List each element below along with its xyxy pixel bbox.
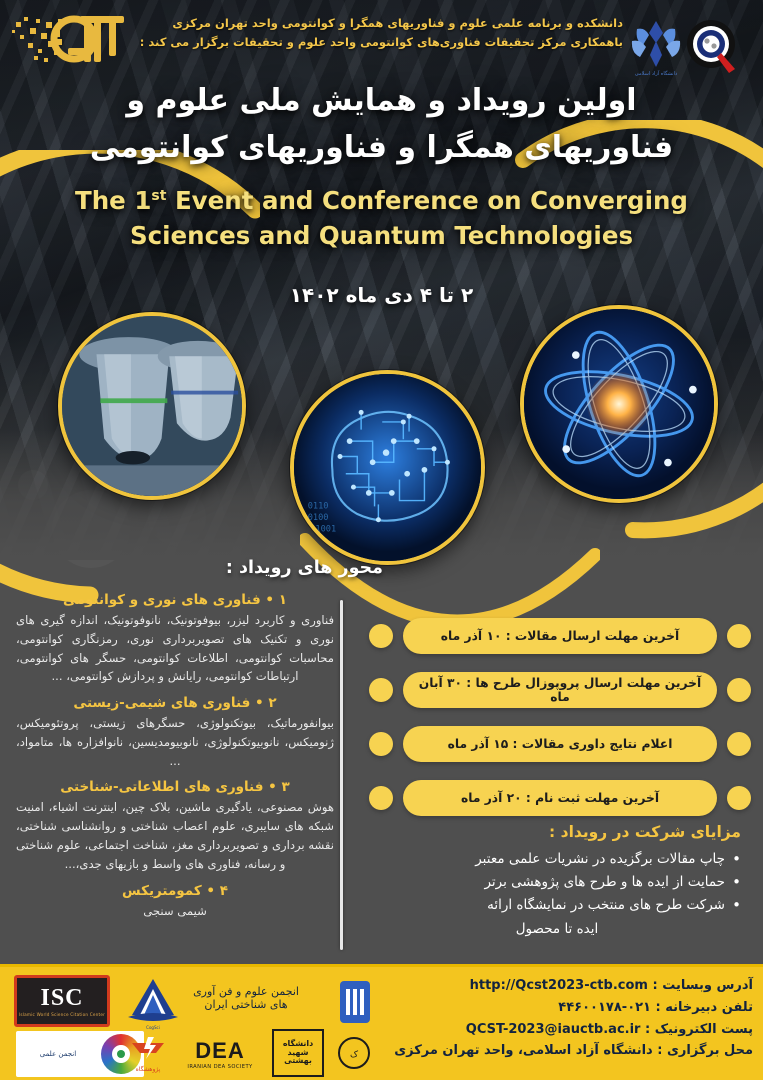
axes-topics-list: ۱ • فناوری های نوری و کوانتومی فناوری و …: [16, 592, 334, 929]
venue-label: محل برگزاری :: [657, 1043, 753, 1058]
topic-label: فناوری های نوری و کوانتومی: [63, 592, 261, 608]
islamic-azad-university-logo: دانشگاه آزاد اسلامی: [629, 15, 683, 77]
topic-item: ۳ • فناوری های اطلاعاتی-شناختی هوش مصنوع…: [16, 779, 334, 873]
benefits-list: چاپ مقالات برگزیده در نشریات علمی معتبر …: [389, 848, 741, 941]
deadline-dot-right: [727, 624, 751, 648]
deadline-row: آخرین مهلت ثبت نام : ۲۰ آذر ماه: [365, 776, 755, 820]
deadline-dot-left: [369, 732, 393, 756]
header-right-logos: دانشگاه آزاد اسلامی: [629, 4, 757, 88]
persian-title-line-2: فناوریهای همگرا و فناوریهای کوانتومی: [0, 125, 763, 172]
persian-title: اولین رویداد و همایش ملی علوم و فناوریها…: [0, 78, 763, 171]
conference-poster: دانشکده و برنامه علمی علوم و فناوریهای ه…: [0, 0, 763, 1080]
topic-label: فناوری های اطلاعاتی-شناختی: [60, 779, 263, 795]
english-title-line-2: Sciences and Quantum Technologies: [0, 219, 763, 254]
phone-label: تلفن دبیرخانه :: [656, 1000, 753, 1015]
organizer-line-1: دانشکده و برنامه علمی علوم و فناوریهای ه…: [113, 14, 623, 33]
topic-title: ۳ • فناوری های اطلاعاتی-شناختی: [16, 779, 334, 795]
deadline-dot-left: [369, 624, 393, 648]
topic-body: بیوانفورماتیک، بیوتکنولوژی، حسگرهای زیست…: [16, 714, 334, 770]
deadline-pill: اعلام نتایج داوری مقالات : ۱۵ آذر ماه: [403, 726, 717, 762]
benefit-item: حمایت از ایده ها و طرح های پژوهشی برتر: [389, 871, 741, 894]
sbu-text: دانشگاه شهید بهشتی: [274, 1040, 322, 1066]
atom-orbitals-art: [524, 309, 714, 499]
footer-sponsor-logos: ISC Islamic World Science Citation Cente…: [6, 971, 354, 1080]
cognitive-society-text: انجمن علوم و فن آوری های شناختی ایران: [186, 985, 306, 1011]
deadline-dot-right: [727, 732, 751, 756]
atom-image-circle: [520, 305, 718, 503]
english-title-rest: Event and Conference on Converging: [175, 186, 688, 215]
power-research-institute-logo: پژوهشگاه: [126, 1033, 170, 1077]
isc-logo: ISC Islamic World Science Citation Cente…: [14, 975, 110, 1027]
benefits-heading: مزایای شرکت در رویداد :: [391, 823, 741, 841]
english-title: The 1st Event and Conference on Convergi…: [0, 184, 763, 254]
dea-main-text: DEA: [195, 1040, 244, 1062]
english-title-pre: The 1: [75, 186, 151, 215]
deadline-dot-left: [369, 786, 393, 810]
azad-caption: دانشگاه آزاد اسلامی: [635, 70, 677, 77]
deadline-pill: آخرین مهلت ثبت نام : ۲۰ آذر ماه: [403, 780, 717, 816]
footer-contact-block: آدرس وبسایت : http://Qcst2023-ctb.com تل…: [353, 975, 753, 1062]
circuit-brain-art: 0110 0100 1001 1001: [294, 374, 481, 561]
topic-body: شیمی سنجی: [16, 902, 334, 921]
topic-label: کمومتریکس: [122, 883, 202, 899]
topic-number: ۱: [279, 592, 287, 608]
event-date: ۲ تا ۴ دی ماه ۱۴۰۲: [0, 283, 763, 307]
deadline-pill: آخرین مهلت ارسال پروپوزال طرح ها : ۳۰ آب…: [403, 672, 717, 708]
benefit-continuation: ایده تا محصول: [389, 918, 741, 941]
phone-row: تلفن دبیرخانه : ۰۲۱-۴۴۶۰۰۱۷۸: [353, 997, 753, 1019]
topic-number: ۳: [281, 779, 289, 795]
website-row: آدرس وبسایت : http://Qcst2023-ctb.com: [353, 975, 753, 997]
deadline-row: آخرین مهلت ارسال پروپوزال طرح ها : ۳۰ آب…: [365, 668, 755, 712]
topic-body: فناوری و کاربرد لیزر، بیوفوتونیک، نانوفو…: [16, 611, 334, 686]
university-logo-footer-1: [336, 977, 374, 1029]
scientific-association-logo: انجمن علمی: [16, 1031, 144, 1077]
qc-research-center-logo: [685, 17, 741, 75]
topic-title: ۲ • فناوری های شیمی-زیستی: [16, 695, 334, 711]
circuit-brain-image-circle: 0110 0100 1001 1001: [290, 370, 485, 565]
topic-label: فناوری های شیمی-زیستی: [73, 695, 250, 711]
svg-text:0100: 0100: [308, 513, 329, 523]
organizer-text: دانشکده و برنامه علمی علوم و فناوریهای ه…: [113, 14, 623, 52]
benefit-item: شرکت طرح های منتخب در نمایشگاه ارائه: [389, 894, 741, 917]
isc-main-text: ISC: [40, 986, 83, 1010]
email-value[interactable]: QCST-2023@iauctb.ac.ir: [466, 1022, 641, 1037]
topic-number: ۲: [268, 695, 276, 711]
microscope-image-circle: [58, 312, 246, 500]
email-row: پست الکترونیک : QCST-2023@iauctb.ac.ir: [353, 1019, 753, 1041]
topic-item: ۲ • فناوری های شیمی-زیستی بیوانفورماتیک،…: [16, 695, 334, 770]
dea-society-logo: DEA IRANIAN DEA SOCIETY: [174, 1033, 266, 1077]
persian-title-line-1: اولین رویداد و همایش ملی علوم و: [0, 78, 763, 125]
website-label: آدرس وبسایت :: [652, 978, 753, 993]
venue-row: محل برگزاری : دانشگاه آزاد اسلامی، واحد …: [353, 1040, 753, 1062]
poster-header: دانشکده و برنامه علمی علوم و فناوریهای ه…: [0, 0, 763, 90]
poster-footer: آدرس وبسایت : http://Qcst2023-ctb.com تل…: [0, 964, 763, 1080]
axes-heading: محور های رویداد :: [226, 558, 383, 578]
benefit-item: چاپ مقالات برگزیده در نشریات علمی معتبر: [389, 848, 741, 871]
svg-text:CogSci: CogSci: [146, 1025, 160, 1030]
topic-body: هوش مصنوعی، یادگیری ماشین، بلاک چین، این…: [16, 798, 334, 873]
rainbow-logo-text: انجمن علمی: [19, 1050, 97, 1058]
organizer-line-2: باهمکاری مرکز تحقیقات فناوری‌های کوانتوم…: [113, 33, 623, 52]
svg-text:1001: 1001: [294, 536, 313, 546]
deadline-row: اعلام نتایج داوری مقالات : ۱۵ آذر ماه: [365, 722, 755, 766]
svg-text:1001: 1001: [315, 524, 336, 534]
venue-value: دانشگاه آزاد اسلامی، واحد تهران مرکزی: [394, 1043, 653, 1058]
email-label: پست الکترونیک :: [645, 1022, 753, 1037]
topic-number: ۴: [220, 883, 228, 899]
english-title-line-1: The 1st Event and Conference on Convergi…: [0, 184, 763, 219]
deadline-dot-right: [727, 786, 751, 810]
column-divider: [340, 600, 343, 950]
microscope-objectives-art: [62, 316, 242, 496]
topic-title: ۴ • کمومتریکس: [16, 883, 334, 899]
dea-sub-text: IRANIAN DEA SOCIETY: [187, 1064, 252, 1070]
website-value[interactable]: http://Qcst2023-ctb.com: [470, 978, 648, 993]
deadline-row: آخرین مهلت ارسال مقالات : ۱۰ آذر ماه: [365, 614, 755, 658]
deadline-dot-left: [369, 678, 393, 702]
deadlines-list: آخرین مهلت ارسال مقالات : ۱۰ آذر ماه آخر…: [365, 614, 755, 830]
svg-text:0110: 0110: [308, 501, 329, 511]
deadline-dot-right: [727, 678, 751, 702]
university-logo-footer-2: ک: [332, 1033, 376, 1079]
isc-sub-text: Islamic World Science Citation Center: [19, 1012, 105, 1017]
topic-title: ۱ • فناوری های نوری و کوانتومی: [16, 592, 334, 608]
topic-item: ۴ • کمومتریکس شیمی سنجی: [16, 883, 334, 921]
svg-text:ک: ک: [350, 1049, 359, 1060]
cognitive-science-society-logo: CogSci: [122, 975, 184, 1031]
svg-text:پژوهشگاه: پژوهشگاه: [136, 1065, 161, 1073]
english-title-ordinal: st: [151, 188, 166, 204]
phone-value: ۰۲۱-۴۴۶۰۰۱۷۸: [558, 1000, 651, 1015]
topic-item: ۱ • فناوری های نوری و کوانتومی فناوری و …: [16, 592, 334, 686]
deadline-pill: آخرین مهلت ارسال مقالات : ۱۰ آذر ماه: [403, 618, 717, 654]
shahid-beheshti-university-logo: دانشگاه شهید بهشتی: [272, 1029, 324, 1077]
